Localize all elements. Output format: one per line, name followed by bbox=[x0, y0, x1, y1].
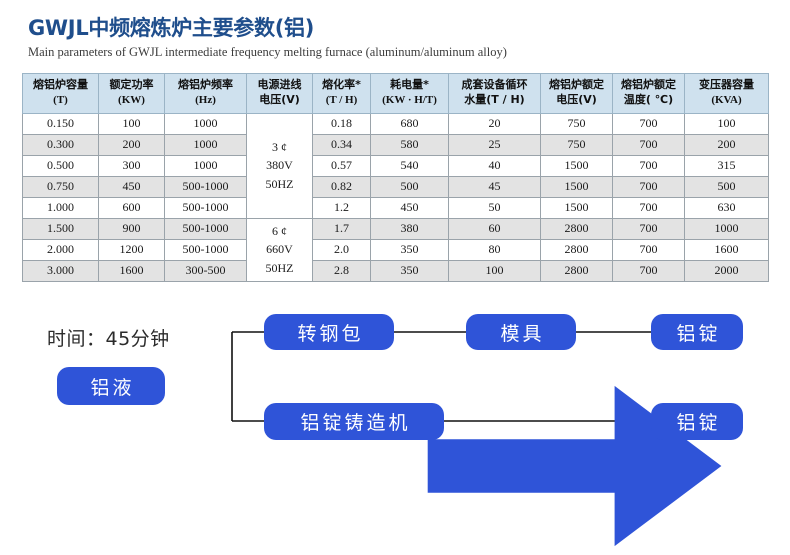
cell-rated-voltage: 2800 bbox=[541, 260, 613, 281]
cell-frequency: 1000 bbox=[165, 134, 247, 155]
cell-water: 60 bbox=[449, 218, 541, 239]
page-subtitle: Main parameters of GWJL intermediate fre… bbox=[28, 45, 768, 60]
col-head-rated-temp-unit: 温度( ℃) bbox=[614, 93, 683, 108]
cell-rated-voltage: 1500 bbox=[541, 176, 613, 197]
col-head-rated-temp-name: 熔铝炉额定 bbox=[614, 78, 683, 93]
cell-capacity: 1.000 bbox=[23, 197, 99, 218]
spec-table: 熔铝炉容量 (T) 额定功率 (KW) 熔铝炉频率 (Hz) 电源进线 电压(V… bbox=[22, 73, 769, 282]
cell-rated-temp: 700 bbox=[613, 176, 685, 197]
cell-frequency: 500-1000 bbox=[165, 176, 247, 197]
cell-rated-voltage: 2800 bbox=[541, 218, 613, 239]
spec-table-container: 熔铝炉容量 (T) 额定功率 (KW) 熔铝炉频率 (Hz) 电源进线 电压(V… bbox=[22, 73, 768, 282]
flow-node-aluminum-liquid[interactable]: 铝液 bbox=[57, 367, 165, 405]
col-head-rated-temp: 熔铝炉额定 温度( ℃) bbox=[613, 74, 685, 114]
col-head-transformer: 变压器容量 (KVA) bbox=[685, 74, 769, 114]
col-head-rated-voltage-name: 熔铝炉额定 bbox=[542, 78, 611, 93]
col-head-rated-voltage-unit: 电压(V) bbox=[542, 93, 611, 108]
supply-voltage-line: 50HZ bbox=[249, 175, 310, 194]
col-head-supply-voltage-unit: 电压(V) bbox=[248, 93, 311, 108]
col-head-capacity-name: 熔铝炉容量 bbox=[24, 78, 97, 93]
col-head-energy: 耗电量* (KW · H/T) bbox=[371, 74, 449, 114]
cell-frequency: 500-1000 bbox=[165, 239, 247, 260]
supply-voltage-line: 6 ¢ bbox=[249, 222, 310, 241]
cell-rated-temp: 700 bbox=[613, 134, 685, 155]
cell-power: 100 bbox=[99, 113, 165, 134]
supply-voltage-line: 3 ¢ bbox=[249, 138, 310, 157]
cell-power: 300 bbox=[99, 155, 165, 176]
cell-rated-temp: 700 bbox=[613, 260, 685, 281]
cell-melt-rate: 1.2 bbox=[313, 197, 371, 218]
supply-voltage-line: 660V bbox=[249, 240, 310, 259]
cell-melt-rate: 2.0 bbox=[313, 239, 371, 260]
cell-capacity: 0.500 bbox=[23, 155, 99, 176]
table-row: 0.15010010003 ¢380V50HZ0.186802075070010… bbox=[23, 113, 769, 134]
cell-transformer: 630 bbox=[685, 197, 769, 218]
cell-energy: 680 bbox=[371, 113, 449, 134]
col-head-energy-name: 耗电量* bbox=[372, 78, 447, 93]
cell-water: 50 bbox=[449, 197, 541, 218]
cell-supply-voltage-group: 6 ¢660V50HZ bbox=[247, 218, 313, 281]
cell-water: 20 bbox=[449, 113, 541, 134]
cell-melt-rate: 0.18 bbox=[313, 113, 371, 134]
cell-rated-temp: 700 bbox=[613, 239, 685, 260]
cell-energy: 350 bbox=[371, 260, 449, 281]
cell-power: 450 bbox=[99, 176, 165, 197]
col-head-capacity-unit: (T) bbox=[24, 93, 97, 108]
flow-node-ingot-bottom[interactable]: 铝锭 bbox=[651, 403, 743, 440]
col-head-rated-voltage: 熔铝炉额定 电压(V) bbox=[541, 74, 613, 114]
cell-melt-rate: 0.82 bbox=[313, 176, 371, 197]
cell-frequency: 1000 bbox=[165, 155, 247, 176]
spec-table-body: 0.15010010003 ¢380V50HZ0.186802075070010… bbox=[23, 113, 769, 281]
col-head-melt-rate-name: 熔化率* bbox=[314, 78, 369, 93]
cell-melt-rate: 1.7 bbox=[313, 218, 371, 239]
table-row: 1.500900500-10006 ¢660V50HZ1.73806028007… bbox=[23, 218, 769, 239]
cell-transformer: 1600 bbox=[685, 239, 769, 260]
col-head-capacity: 熔铝炉容量 (T) bbox=[23, 74, 99, 114]
cell-melt-rate: 0.34 bbox=[313, 134, 371, 155]
cell-capacity: 0.300 bbox=[23, 134, 99, 155]
cell-rated-temp: 700 bbox=[613, 218, 685, 239]
cell-water: 45 bbox=[449, 176, 541, 197]
flow-node-mold[interactable]: 模具 bbox=[466, 314, 576, 350]
col-head-energy-unit: (KW · H/T) bbox=[372, 93, 447, 108]
cell-power: 1200 bbox=[99, 239, 165, 260]
cell-rated-voltage: 1500 bbox=[541, 155, 613, 176]
col-head-power: 额定功率 (KW) bbox=[99, 74, 165, 114]
cell-energy: 500 bbox=[371, 176, 449, 197]
table-row: 0.50030010000.57540401500700315 bbox=[23, 155, 769, 176]
col-head-supply-voltage-name: 电源进线 bbox=[248, 78, 311, 93]
supply-voltage-line: 50HZ bbox=[249, 259, 310, 278]
flow-node-ingot-top[interactable]: 铝锭 bbox=[651, 314, 743, 350]
cell-melt-rate: 0.57 bbox=[313, 155, 371, 176]
cell-rated-temp: 700 bbox=[613, 155, 685, 176]
cell-power: 900 bbox=[99, 218, 165, 239]
col-head-frequency-unit: (Hz) bbox=[166, 93, 245, 108]
cell-water: 25 bbox=[449, 134, 541, 155]
col-head-supply-voltage: 电源进线 电压(V) bbox=[247, 74, 313, 114]
cell-energy: 450 bbox=[371, 197, 449, 218]
time-label: 时间：45分钟 bbox=[47, 324, 170, 351]
cell-rated-voltage: 750 bbox=[541, 113, 613, 134]
table-row: 3.0001600300-5002.835010028007002000 bbox=[23, 260, 769, 281]
cell-water: 100 bbox=[449, 260, 541, 281]
cell-transformer: 315 bbox=[685, 155, 769, 176]
cell-power: 600 bbox=[99, 197, 165, 218]
table-row: 1.000600500-10001.2450501500700630 bbox=[23, 197, 769, 218]
col-head-water-name: 成套设备循环 bbox=[450, 78, 539, 93]
cell-frequency: 300-500 bbox=[165, 260, 247, 281]
cell-transformer: 500 bbox=[685, 176, 769, 197]
table-row: 0.30020010000.3458025750700200 bbox=[23, 134, 769, 155]
cell-transformer: 1000 bbox=[685, 218, 769, 239]
table-header-row: 熔铝炉容量 (T) 额定功率 (KW) 熔铝炉频率 (Hz) 电源进线 电压(V… bbox=[23, 74, 769, 114]
col-head-power-unit: (KW) bbox=[100, 93, 163, 108]
cell-transformer: 200 bbox=[685, 134, 769, 155]
cell-energy: 380 bbox=[371, 218, 449, 239]
cell-rated-voltage: 2800 bbox=[541, 239, 613, 260]
cell-frequency: 1000 bbox=[165, 113, 247, 134]
cell-energy: 350 bbox=[371, 239, 449, 260]
cell-transformer: 100 bbox=[685, 113, 769, 134]
cell-capacity: 2.000 bbox=[23, 239, 99, 260]
cell-frequency: 500-1000 bbox=[165, 197, 247, 218]
cell-supply-voltage-group: 3 ¢380V50HZ bbox=[247, 113, 313, 218]
cell-power: 200 bbox=[99, 134, 165, 155]
col-head-frequency-name: 熔铝炉频率 bbox=[166, 78, 245, 93]
flow-node-transfer-ladle[interactable]: 转钢包 bbox=[264, 314, 394, 350]
col-head-transformer-unit: (KVA) bbox=[686, 93, 767, 108]
col-head-frequency: 熔铝炉频率 (Hz) bbox=[165, 74, 247, 114]
cell-energy: 580 bbox=[371, 134, 449, 155]
cell-rated-temp: 700 bbox=[613, 113, 685, 134]
cell-rated-voltage: 750 bbox=[541, 134, 613, 155]
col-head-water: 成套设备循环 水量(T / H) bbox=[449, 74, 541, 114]
cell-capacity: 3.000 bbox=[23, 260, 99, 281]
cell-power: 1600 bbox=[99, 260, 165, 281]
cell-energy: 540 bbox=[371, 155, 449, 176]
cell-capacity: 1.500 bbox=[23, 218, 99, 239]
table-row: 0.750450500-10000.82500451500700500 bbox=[23, 176, 769, 197]
cell-water: 40 bbox=[449, 155, 541, 176]
table-row: 2.0001200500-10002.03508028007001600 bbox=[23, 239, 769, 260]
col-head-water-unit: 水量(T / H) bbox=[450, 93, 539, 108]
supply-voltage-line: 380V bbox=[249, 156, 310, 175]
page-header: GWJL中频熔炼炉主要参数(铝) Main parameters of GWJL… bbox=[28, 16, 768, 60]
cell-frequency: 500-1000 bbox=[165, 218, 247, 239]
col-head-melt-rate-unit: (T / H) bbox=[314, 93, 369, 108]
col-head-transformer-name: 变压器容量 bbox=[686, 78, 767, 93]
col-head-melt-rate: 熔化率* (T / H) bbox=[313, 74, 371, 114]
cell-rated-voltage: 1500 bbox=[541, 197, 613, 218]
cell-capacity: 0.150 bbox=[23, 113, 99, 134]
cell-water: 80 bbox=[449, 239, 541, 260]
process-flow-diagram: 时间：45分钟 铝液 转钢包 模具 铝锭 铝锭铸造机 铝锭 bbox=[0, 296, 790, 474]
col-head-power-name: 额定功率 bbox=[100, 78, 163, 93]
cell-transformer: 2000 bbox=[685, 260, 769, 281]
flow-node-ingot-casting-machine[interactable]: 铝锭铸造机 bbox=[264, 403, 444, 440]
cell-melt-rate: 2.8 bbox=[313, 260, 371, 281]
page-title: GWJL中频熔炼炉主要参数(铝) bbox=[28, 16, 768, 40]
cell-capacity: 0.750 bbox=[23, 176, 99, 197]
cell-rated-temp: 700 bbox=[613, 197, 685, 218]
